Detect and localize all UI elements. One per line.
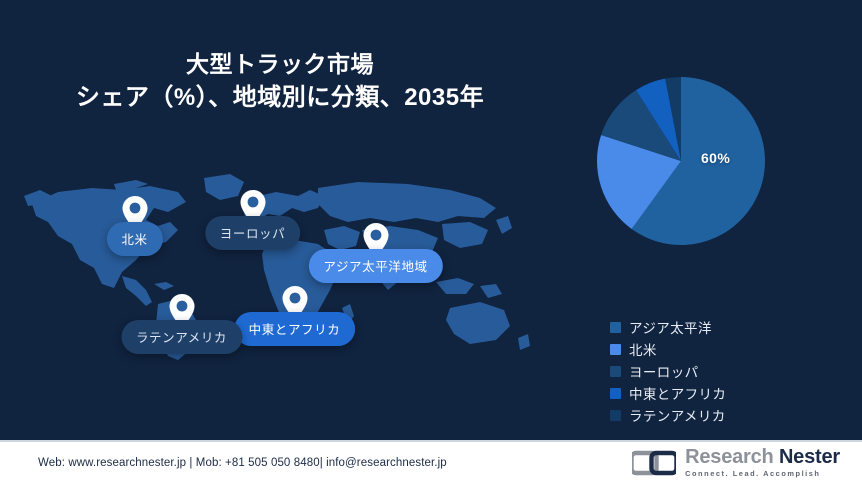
pie-slice-label-asia-pacific: 60% — [701, 150, 730, 166]
map-pin-label-latin-america[interactable]: ラテンアメリカ — [121, 320, 242, 354]
research-nester-logo-icon — [632, 450, 676, 476]
legend-item-middle-east-africa[interactable]: 中東とアフリカ — [610, 383, 726, 403]
map-pin-label-asia-pacific[interactable]: アジア太平洋地域 — [308, 249, 442, 283]
legend-label: アジア太平洋 — [629, 317, 712, 337]
legend-label: 中東とアフリカ — [629, 383, 726, 403]
legend-swatch-icon — [610, 322, 621, 333]
title-line-2: シェア（%）、地域別に分類、2035年 — [0, 81, 560, 115]
pie-slices — [596, 76, 766, 246]
legend-swatch-icon — [610, 366, 621, 377]
chart-legend: アジア太平洋 北米 ヨーロッパ 中東とアフリカ ラテンアメリカ — [610, 317, 726, 427]
logo-word-nester: Nester — [779, 446, 840, 468]
title-line-1: 大型トラック市場 — [0, 48, 560, 81]
legend-item-europe[interactable]: ヨーロッパ — [610, 361, 726, 381]
footer-divider — [0, 440, 862, 442]
infographic-slide: 大型トラック市場 シェア（%）、地域別に分類、2035年 — [0, 0, 862, 485]
logo-word-research: Research — [685, 446, 773, 468]
legend-item-asia-pacific[interactable]: アジア太平洋 — [610, 317, 726, 337]
map-pin-label-north-america[interactable]: 北米 — [106, 222, 162, 256]
logo-wordmark: Research Nester Connect. Lead. Accomplis… — [685, 447, 840, 477]
page-title: 大型トラック市場 シェア（%）、地域別に分類、2035年 — [0, 48, 560, 115]
legend-label: ヨーロッパ — [629, 361, 699, 381]
legend-swatch-icon — [610, 410, 621, 421]
legend-swatch-icon — [610, 344, 621, 355]
legend-swatch-icon — [610, 388, 621, 399]
footer-contact-info: Web: www.researchnester.jp | Mob: +81 50… — [38, 457, 447, 469]
company-logo[interactable]: Research Nester Connect. Lead. Accomplis… — [632, 447, 840, 477]
legend-label: ラテンアメリカ — [629, 405, 726, 425]
legend-label: 北米 — [629, 339, 657, 359]
logo-tagline: Connect. Lead. Accomplish — [685, 470, 840, 477]
footer-bar: Web: www.researchnester.jp | Mob: +81 50… — [0, 440, 862, 485]
map-pin-label-europe[interactable]: ヨーロッパ — [205, 216, 301, 250]
pie-chart: 60% — [575, 55, 787, 267]
logo-title: Research Nester — [685, 447, 840, 467]
legend-item-north-america[interactable]: 北米 — [610, 339, 726, 359]
legend-item-latin-america[interactable]: ラテンアメリカ — [610, 405, 726, 425]
map-pin-label-middle-east-africa[interactable]: 中東とアフリカ — [234, 312, 356, 346]
